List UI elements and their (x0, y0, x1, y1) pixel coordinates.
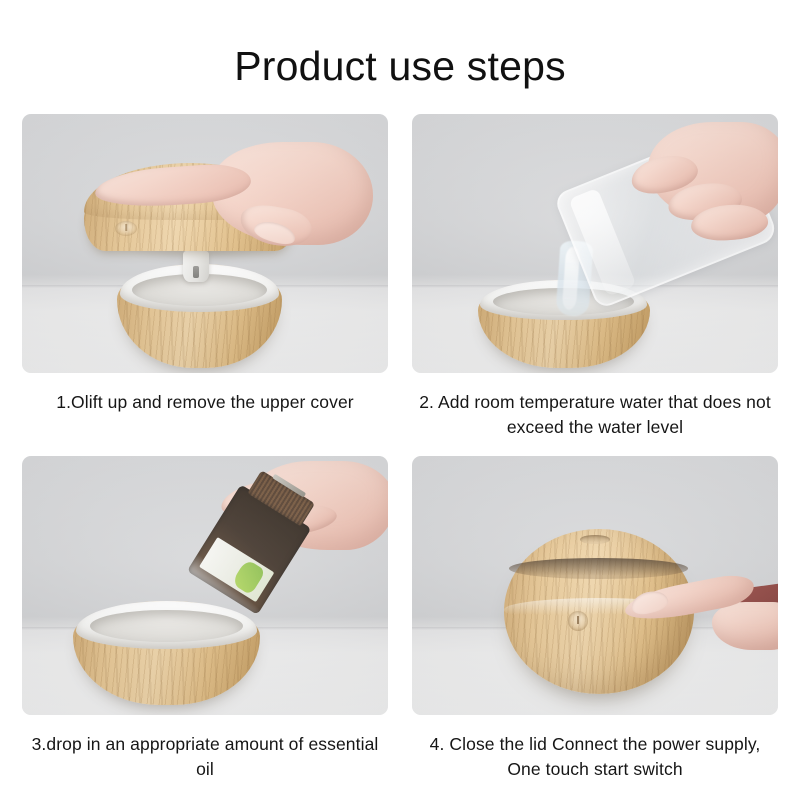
step-item-4: 4. Close the lid Connect the power suppl… (412, 456, 778, 782)
step-number-1: 1. (56, 392, 71, 412)
hand-knuckles (712, 602, 778, 650)
step-text-4: Close the lid Connect the power supply, … (449, 734, 760, 779)
step-photo-4 (412, 456, 778, 715)
power-button-icon (568, 611, 588, 631)
mist-nozzle (183, 251, 209, 282)
step-item-2: 2. Add room temperature water that does … (412, 114, 778, 440)
step-caption-1: 1.Olift up and remove the upper cover (22, 390, 388, 415)
step-text-3: drop in an appropriate amount of essenti… (46, 734, 378, 779)
hand-holding-glass (621, 122, 778, 257)
step-text-1: Olift up and remove the upper cover (71, 392, 354, 412)
step-item-1: 1.Olift up and remove the upper cover (22, 114, 388, 440)
step-number-3: 3. (32, 734, 47, 754)
step-item-3: 3.drop in an appropriate amount of essen… (22, 456, 388, 782)
step-caption-2: 2. Add room temperature water that does … (412, 390, 778, 440)
essential-oil-bottle (187, 484, 312, 615)
step-number-2: 2. (419, 392, 434, 412)
step-text-2: Add room temperature water that does not… (438, 392, 771, 437)
hand-lifting-cover (95, 142, 373, 253)
page-title: Product use steps (0, 46, 800, 87)
hand-pressing-power-button (624, 554, 778, 658)
mist-outlet-vent (580, 535, 609, 544)
step-photo-1 (22, 114, 388, 373)
steps-grid: 1.Olift up and remove the upper cover 2. (22, 114, 778, 782)
step-caption-4: 4. Close the lid Connect the power suppl… (412, 732, 778, 782)
step-caption-3: 3.drop in an appropriate amount of essen… (22, 732, 388, 782)
step-photo-2 (412, 114, 778, 373)
step-photo-3 (22, 456, 388, 715)
step-number-4: 4. (430, 734, 445, 754)
